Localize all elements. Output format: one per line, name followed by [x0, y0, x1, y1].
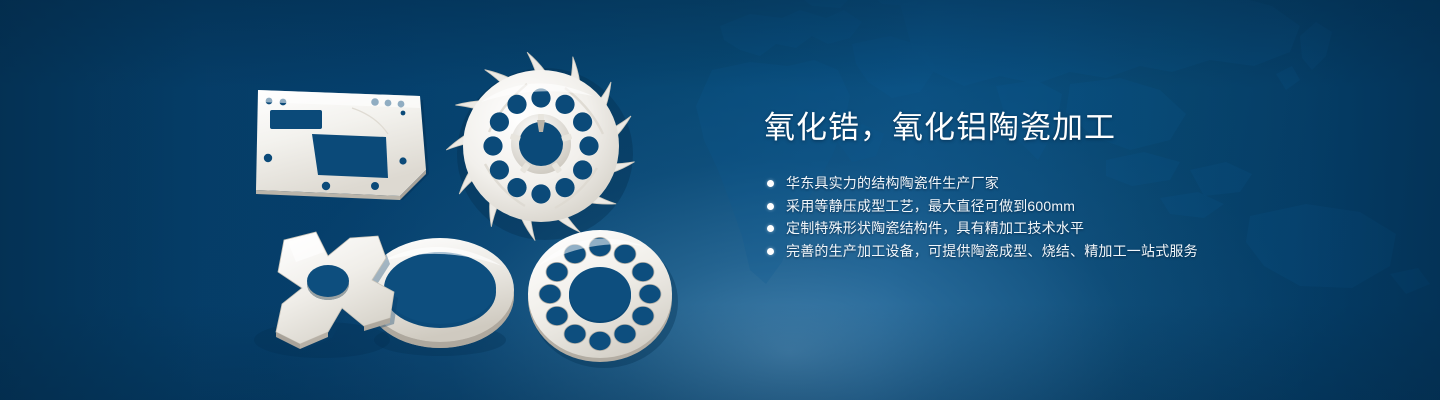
ceramic-impeller-image	[446, 50, 636, 246]
list-item: 华东具实力的结构陶瓷件生产厂家	[764, 172, 1324, 195]
bullet-dot-icon	[767, 248, 774, 255]
list-item: 采用等静压成型工艺，最大直径可做到600mm	[764, 195, 1324, 218]
page-title: 氧化锆，氧化铝陶瓷加工	[764, 108, 1324, 148]
list-item-label: 完善的生产加工设备，可提供陶瓷成型、烧结、精加工一站式服务	[786, 243, 1198, 259]
list-item: 完善的生产加工设备，可提供陶瓷成型、烧结、精加工一站式服务	[764, 240, 1324, 263]
list-item-label: 定制特殊形状陶瓷结构件，具有精加工技术水平	[786, 220, 1084, 236]
bullet-dot-icon	[767, 180, 774, 187]
list-item: 定制特殊形状陶瓷结构件，具有精加工技术水平	[764, 217, 1324, 240]
marketing-text-block: 氧化锆，氧化铝陶瓷加工 华东具实力的结构陶瓷件生产厂家 采用等静压成型工艺，最大…	[764, 108, 1324, 262]
promo-banner: 氧化锆，氧化铝陶瓷加工 华东具实力的结构陶瓷件生产厂家 采用等静压成型工艺，最大…	[0, 0, 1440, 400]
product-photo-group	[0, 0, 740, 400]
ceramic-plate-image	[248, 78, 438, 208]
ceramic-disc-image	[512, 222, 694, 370]
ceramic-cross-ring-image	[244, 222, 516, 370]
feature-list: 华东具实力的结构陶瓷件生产厂家 采用等静压成型工艺，最大直径可做到600mm 定…	[764, 172, 1324, 262]
bullet-dot-icon	[767, 203, 774, 210]
list-item-label: 采用等静压成型工艺，最大直径可做到600mm	[786, 198, 1075, 214]
list-item-label: 华东具实力的结构陶瓷件生产厂家	[786, 175, 999, 191]
bullet-dot-icon	[767, 225, 774, 232]
